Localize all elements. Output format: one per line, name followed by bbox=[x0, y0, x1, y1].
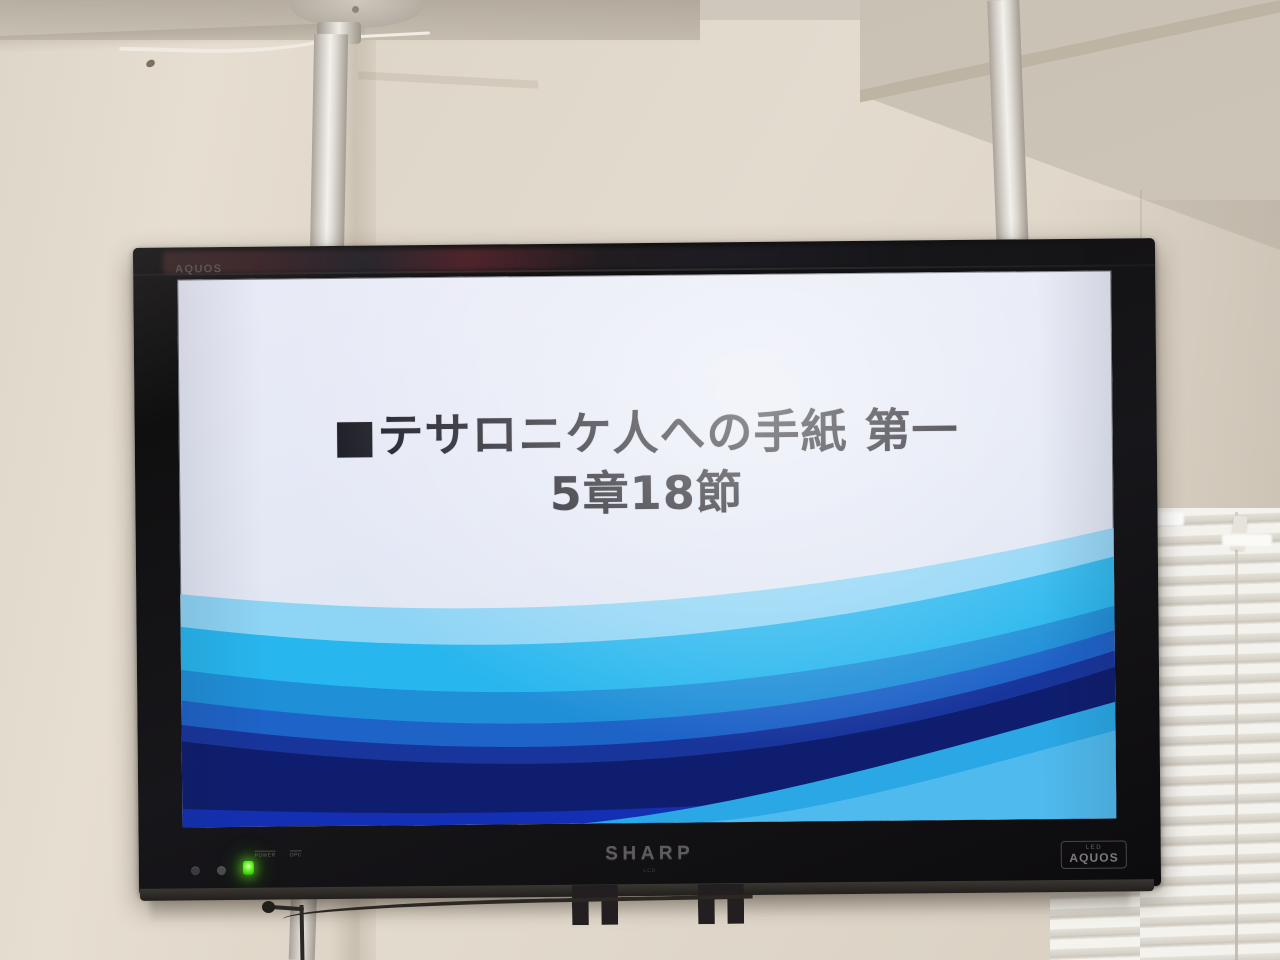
slide-title-line-1: ■テサロニケ人への手紙 第一 bbox=[178, 402, 1112, 464]
slide-title-line-2: 5章18節 bbox=[179, 461, 1113, 525]
slide-wave-graphic bbox=[180, 512, 1117, 828]
slide-title-block: ■テサロニケ人への手紙 第一 5章18節 bbox=[178, 402, 1113, 526]
sharp-logo: SHARP bbox=[605, 843, 694, 866]
blind-highlight-secondary bbox=[1222, 534, 1272, 546]
tv-indicator-cluster bbox=[191, 861, 254, 876]
tv-power-cable-connector bbox=[262, 901, 275, 913]
television[interactable]: AQUOS bbox=[133, 238, 1161, 896]
aquos-logo-top: AQUOS bbox=[175, 263, 222, 275]
indicator-label-power: POWER bbox=[255, 851, 276, 859]
blind-cord-ladder[interactable] bbox=[1235, 512, 1238, 960]
sensor-dot-icon bbox=[191, 866, 200, 875]
wave-svg bbox=[180, 512, 1117, 828]
mount-pole-left bbox=[310, 34, 348, 261]
power-led-icon bbox=[243, 861, 254, 875]
tv-screen[interactable]: ■テサロニケ人への手紙 第一 5章18節 bbox=[177, 271, 1116, 828]
badge-aquos-label: AQUOS bbox=[1069, 851, 1119, 863]
mount-plate-screw bbox=[352, 6, 359, 13]
window-blinds[interactable] bbox=[1140, 508, 1280, 960]
tv-indicator-labels: POWER OPC bbox=[255, 850, 302, 858]
remote-receiver-icon bbox=[217, 866, 226, 875]
indicator-label-opc: OPC bbox=[290, 850, 302, 858]
led-aquos-badge: LED AQUOS bbox=[1061, 840, 1127, 869]
sharp-logo-sublabel: LCD bbox=[643, 868, 656, 874]
